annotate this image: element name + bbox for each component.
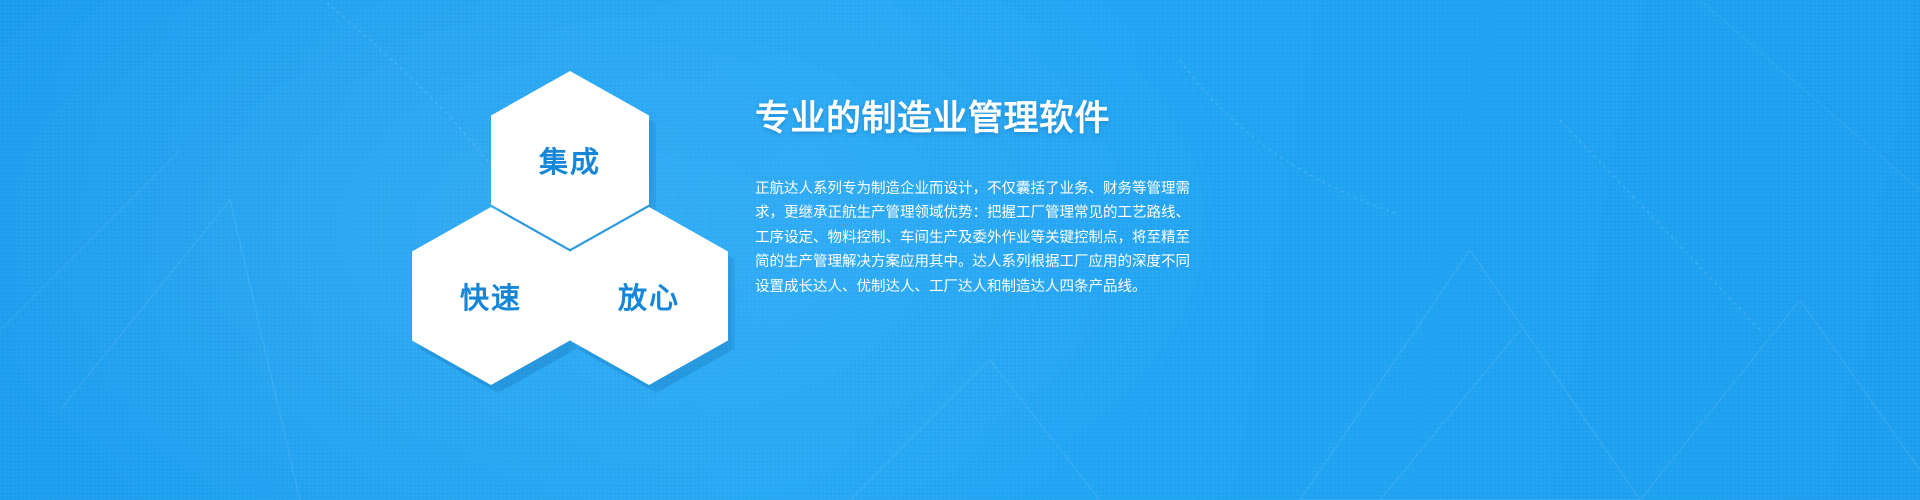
hexagon-fast[interactable]: 快速 (412, 207, 570, 385)
hexagon-label-reliable: 放心 (618, 275, 680, 317)
hexagon-cluster: 集成 快速 放心 (400, 55, 740, 335)
hexagon-label-fast: 快速 (460, 275, 522, 317)
hexagon-label-integration: 集成 (539, 139, 601, 181)
hexagon-reliable[interactable]: 放心 (570, 207, 728, 385)
description-text: 正航达人系列专为制造企业而设计，不仅囊括了业务、财务等管理需求，更继承正航生产管… (755, 177, 1190, 300)
page-title: 专业的制造业管理软件 (755, 100, 1205, 139)
banner-copy: 专业的制造业管理软件 正航达人系列专为制造企业而设计，不仅囊括了业务、财务等管理… (755, 100, 1205, 299)
promo-banner: 集成 快速 放心 专业的制造业管理软件 正航达人系列专为制造企业而设计，不仅囊括… (0, 0, 1920, 500)
description-paragraph: 正航达人系列专为制造企业而设计，不仅囊括了业务、财务等管理需求，更继承正航生产管… (755, 177, 1190, 300)
